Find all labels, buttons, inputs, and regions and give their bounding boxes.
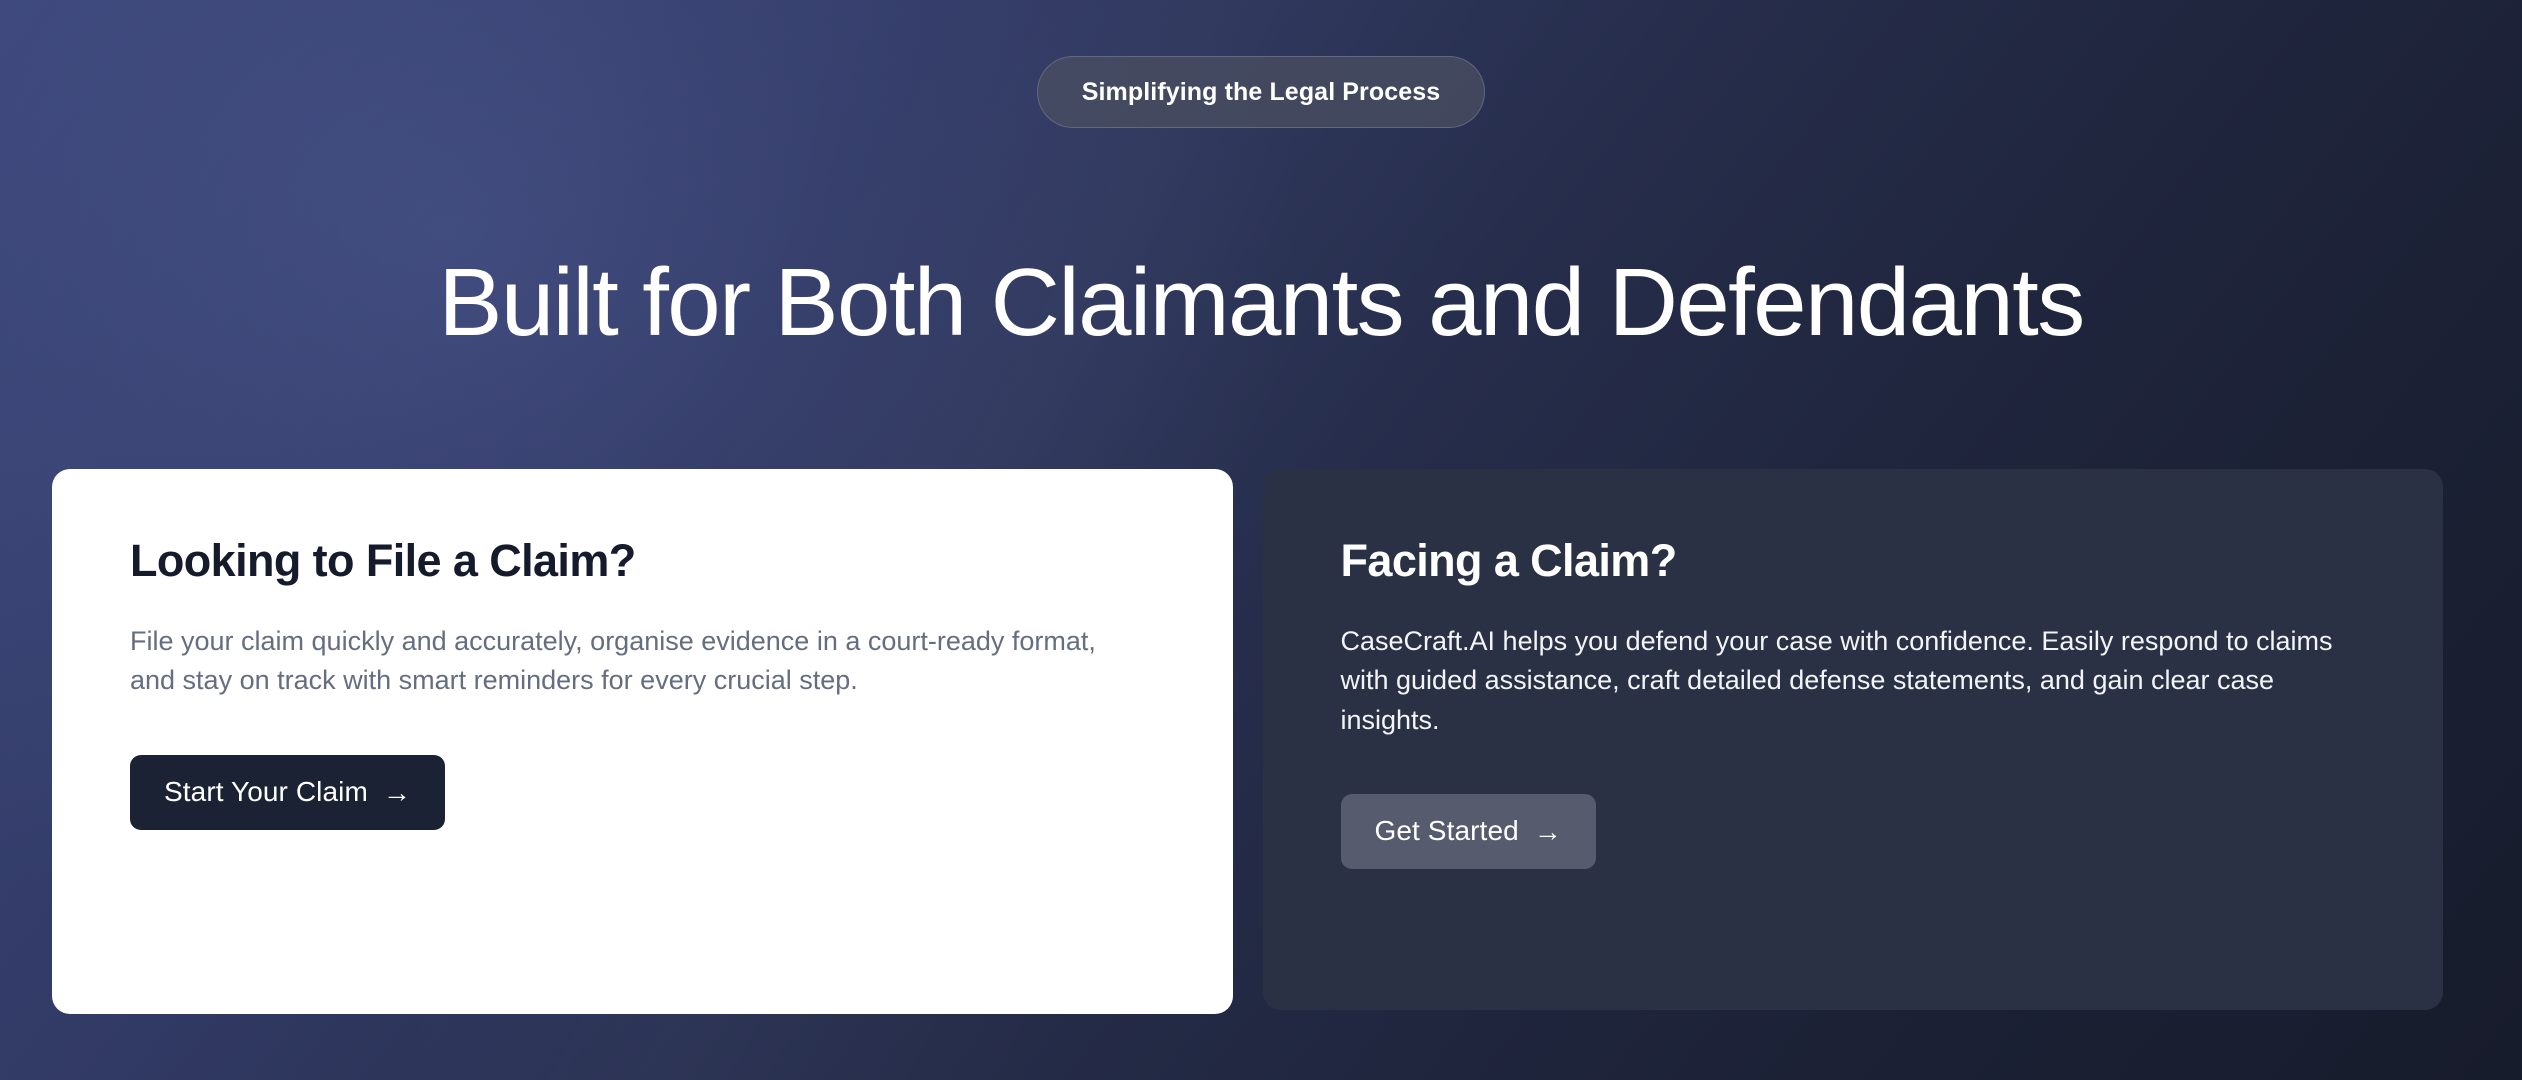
badge-row: Simplifying the Legal Process <box>0 56 2522 128</box>
arrow-right-icon: → <box>383 779 411 807</box>
claimant-card-title: Looking to File a Claim? <box>130 535 1161 587</box>
claimant-card-body: File your claim quickly and accurately, … <box>130 622 1140 701</box>
page-title: Built for Both Claimants and Defendants <box>0 250 2522 356</box>
defendant-card-title: Facing a Claim? <box>1341 535 2372 587</box>
arrow-right-icon: → <box>1534 818 1562 846</box>
card-grid: Looking to File a Claim? File your claim… <box>52 469 2443 1014</box>
claimant-card: Looking to File a Claim? File your claim… <box>52 469 1233 1014</box>
hero-section: Simplifying the Legal Process Built for … <box>0 0 2522 1080</box>
start-your-claim-button[interactable]: Start Your Claim → <box>130 755 445 830</box>
defendant-card: Facing a Claim? CaseCraft.AI helps you d… <box>1263 469 2444 1010</box>
start-your-claim-label: Start Your Claim <box>164 776 368 808</box>
defendant-card-body: CaseCraft.AI helps you defend your case … <box>1341 622 2351 740</box>
get-started-label: Get Started <box>1375 815 1519 847</box>
get-started-button[interactable]: Get Started → <box>1341 794 1596 869</box>
eyebrow-badge: Simplifying the Legal Process <box>1037 56 1486 128</box>
